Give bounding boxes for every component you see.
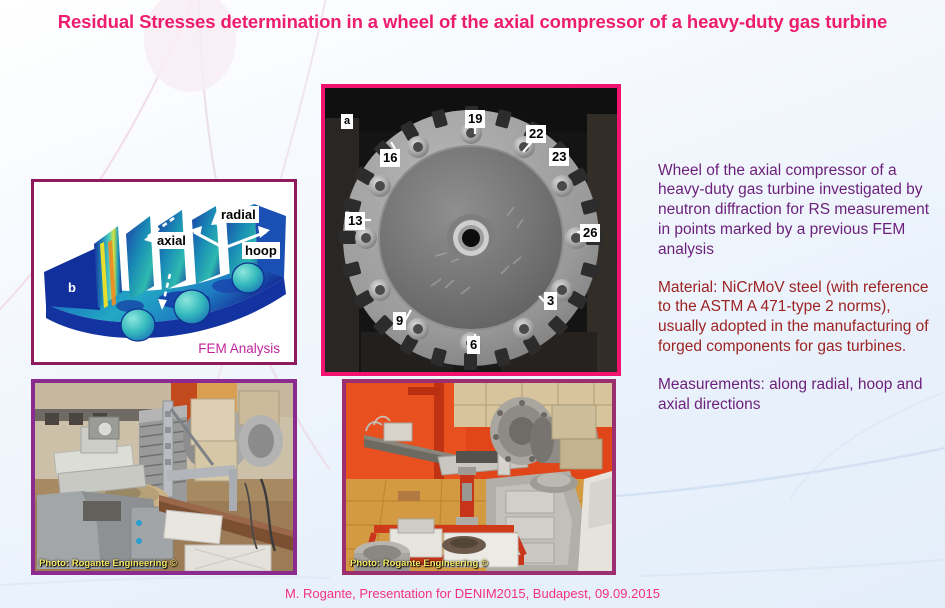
paragraph-measurements: Measurements: along radial, hoop and axi… <box>658 375 934 415</box>
instrument-photo-left-panel: Photo: Rogante Engineering © <box>31 379 297 575</box>
wheel-point-label-6: 6 <box>467 336 480 354</box>
wheel-point-label-13: 13 <box>345 212 365 230</box>
wheel-point-label-3: 3 <box>544 292 557 310</box>
fem-subfigure-letter: b <box>68 280 76 295</box>
photo-credit-right: Photo: Rogante Engineering © <box>350 558 488 569</box>
paragraph-description: Wheel of the axial compressor of a heavy… <box>658 161 934 260</box>
instrument-photo-right-panel: Photo: Rogante Engineering © <box>342 379 616 575</box>
slide-footer: M. Rogante, Presentation for DENIM2015, … <box>0 586 945 601</box>
fem-direction-hoop-label: hoop <box>242 242 280 259</box>
wheel-subfigure-letter: a <box>341 114 353 129</box>
wheel-photograph <box>325 88 617 372</box>
instrument-photo-right <box>346 383 612 571</box>
presentation-slide: Residual Stresses determination in a whe… <box>0 0 945 608</box>
wheel-point-label-9: 9 <box>393 312 406 330</box>
wheel-photograph-panel: 19 22 23 16 13 26 9 6 3 a <box>321 84 621 376</box>
slide-title: Residual Stresses determination in a whe… <box>0 11 945 33</box>
instrument-photo-left <box>35 383 293 571</box>
wheel-point-label-16: 16 <box>380 149 400 167</box>
description-text-column: Wheel of the axial compressor of a heavy… <box>658 145 934 433</box>
wheel-point-label-22: 22 <box>526 125 546 143</box>
fem-analysis-label: FEM Analysis <box>198 341 280 356</box>
photo-credit-left: Photo: Rogante Engineering © <box>39 558 177 569</box>
fem-analysis-panel: b <box>31 179 297 365</box>
fem-direction-radial-label: radial <box>218 206 259 223</box>
fem-direction-axial-label: axial <box>154 232 189 249</box>
wheel-point-label-23: 23 <box>549 148 569 166</box>
wheel-point-label-19: 19 <box>465 110 485 128</box>
wheel-point-label-26: 26 <box>580 224 600 242</box>
paragraph-material: Material: NiCrMoV steel (with reference … <box>658 278 934 357</box>
